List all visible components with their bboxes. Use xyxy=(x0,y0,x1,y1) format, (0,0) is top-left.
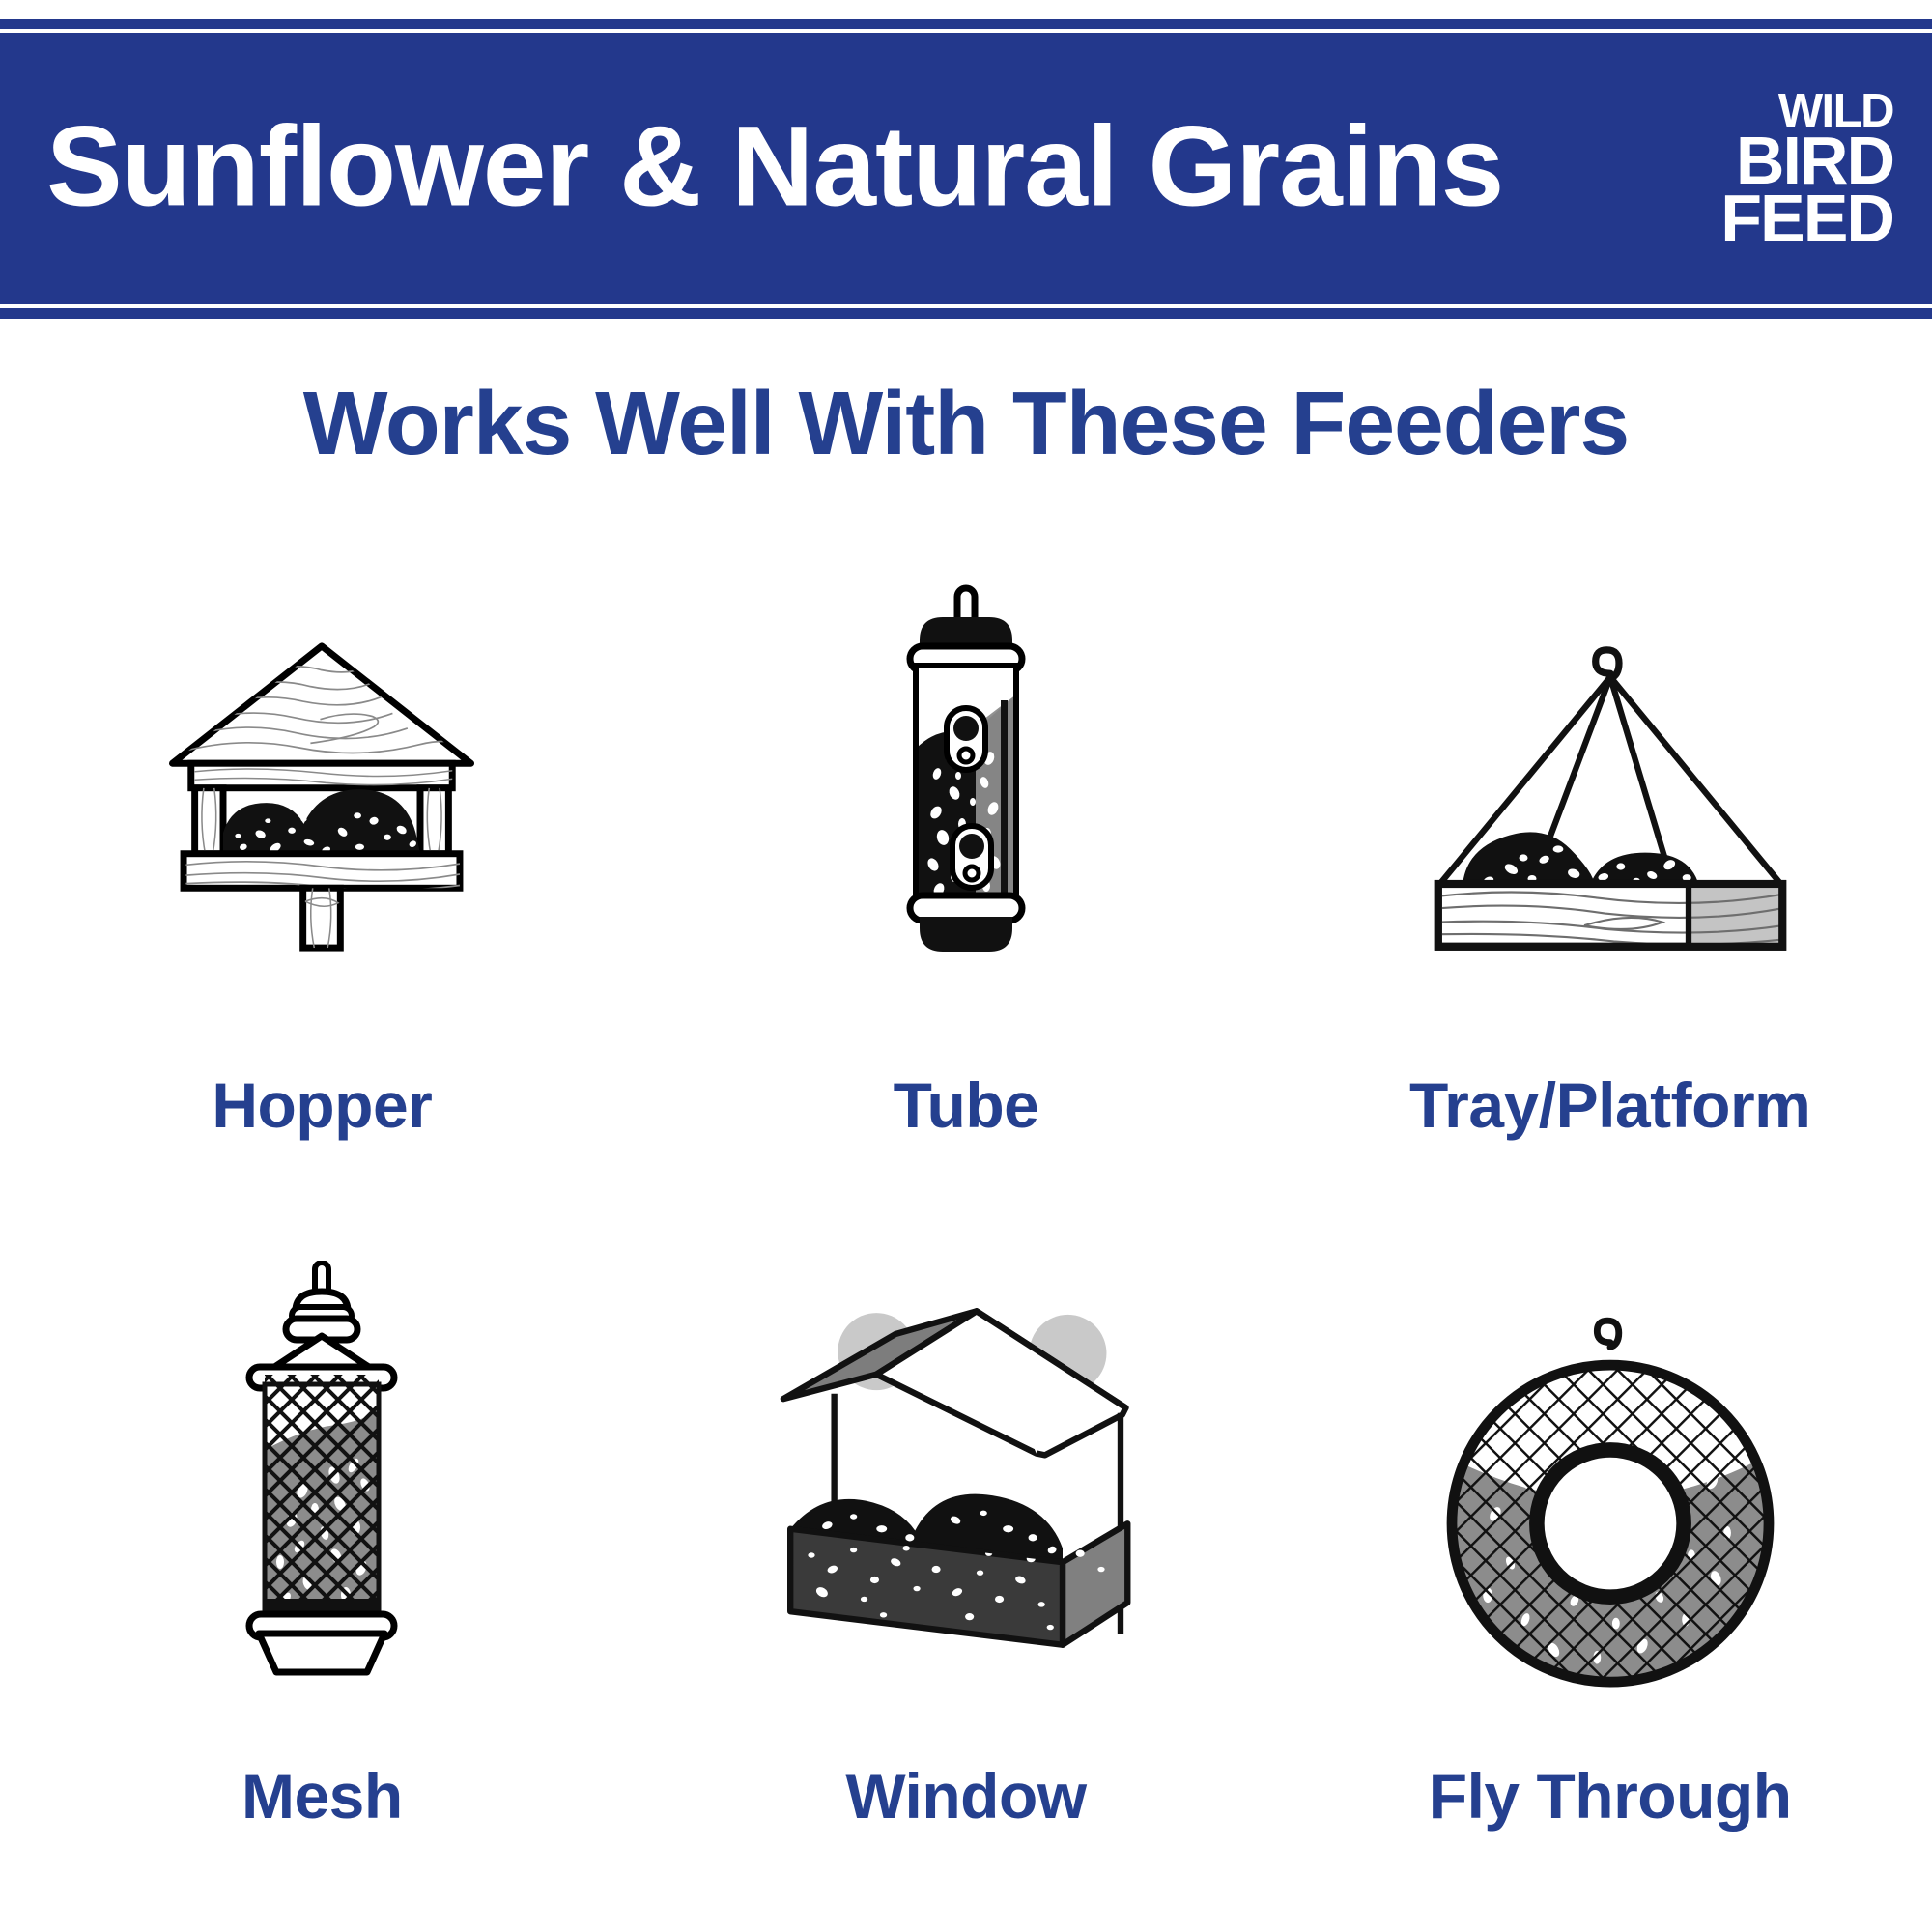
window-feeder-icon xyxy=(644,1217,1289,1758)
fly-through-feeder-icon xyxy=(1288,1217,1932,1758)
hopper-feeder-icon xyxy=(0,526,644,1067)
banner-top-rule xyxy=(0,19,1932,29)
banner-body: Sunflower & Natural Grains WILD BIRD FEE… xyxy=(0,33,1932,304)
header-banner: Sunflower & Natural Grains WILD BIRD FEE… xyxy=(0,19,1932,319)
feeder-grid: Hopper xyxy=(0,526,1932,1908)
feeder-label-window: Window xyxy=(845,1764,1086,1828)
product-infographic: Sunflower & Natural Grains WILD BIRD FEE… xyxy=(0,0,1932,1932)
mesh-feeder-icon xyxy=(0,1217,644,1758)
feeder-cell-hopper: Hopper xyxy=(0,526,644,1217)
feeder-cell-window: Window xyxy=(644,1217,1289,1908)
section-heading: Works Well With These Feeders xyxy=(0,379,1932,469)
feeder-label-tube: Tube xyxy=(894,1073,1039,1137)
feeder-label-fly-through: Fly Through xyxy=(1429,1764,1792,1828)
feeder-cell-mesh: Mesh xyxy=(0,1217,644,1908)
feeder-label-tray-platform: Tray/Platform xyxy=(1409,1073,1810,1137)
feeder-label-mesh: Mesh xyxy=(241,1764,403,1828)
feeder-cell-fly-through: Fly Through xyxy=(1288,1217,1932,1908)
feeder-cell-tray: Tray/Platform xyxy=(1288,526,1932,1217)
product-title: Sunflower & Natural Grains xyxy=(46,109,1503,223)
brand-line-feed: FEED xyxy=(1720,189,1893,247)
feeder-label-hopper: Hopper xyxy=(212,1073,432,1137)
tray-platform-feeder-icon xyxy=(1288,526,1932,1067)
tube-feeder-icon xyxy=(644,526,1289,1067)
feeder-cell-tube: Tube xyxy=(644,526,1289,1217)
brand-logo: WILD BIRD FEED xyxy=(1720,90,1893,247)
banner-bottom-rule xyxy=(0,308,1932,319)
